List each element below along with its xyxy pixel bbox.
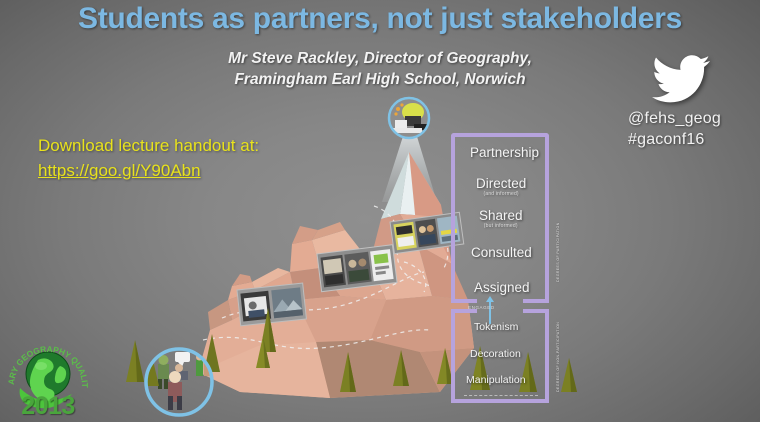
non-participation-caption: DEGREES OF NON-PARTICIPATION	[556, 322, 560, 392]
ladder-rung-manipulation: Manipulation	[466, 374, 526, 386]
ladder-rung-shared: Shared (but informed)	[479, 208, 523, 229]
participation-caption: DEGREES OF PARTICIPATION	[556, 222, 560, 282]
ladder-rung-directed: Directed (and informed)	[476, 176, 526, 197]
ladder-rung-assigned: Assigned	[474, 280, 530, 295]
ladder-rung-partnership: Partnership	[470, 145, 539, 160]
subtitle-line-1: Mr Steve Rackley, Director of Geography,	[228, 50, 532, 67]
handout-link[interactable]: https://goo.gl/Y90Abn	[38, 158, 201, 183]
presentation-slide: Students as partners, not just stakehold…	[0, 0, 760, 422]
slide-title: Students as partners, not just stakehold…	[0, 2, 760, 36]
engaged-label: ENGAGED	[468, 305, 495, 310]
twitter-hashtag[interactable]: #gaconf16	[628, 129, 748, 150]
handout-label: Download lecture handout at:	[38, 133, 259, 158]
gqm-year: 2013	[10, 392, 86, 421]
twitter-block: @fehs_geog #gaconf16	[628, 55, 748, 150]
ladder-rung-decoration: Decoration	[470, 348, 521, 360]
twitter-bird-icon	[652, 55, 710, 103]
ladder-rung-shared-sub: (but informed)	[479, 223, 523, 229]
ladder-rung-tokenism: Tokenism	[474, 321, 518, 333]
twitter-handle[interactable]: @fehs_geog	[628, 108, 748, 129]
geography-quality-mark-badge: SECONDARY GEOGRAPHY QUALITY MARK 2013	[2, 330, 94, 420]
ladder-base-line	[464, 395, 538, 396]
handout-block: Download lecture handout at: https://goo…	[38, 133, 259, 183]
ladder-rung-directed-sub: (and informed)	[476, 191, 526, 197]
ladder-rung-consulted: Consulted	[471, 245, 532, 260]
